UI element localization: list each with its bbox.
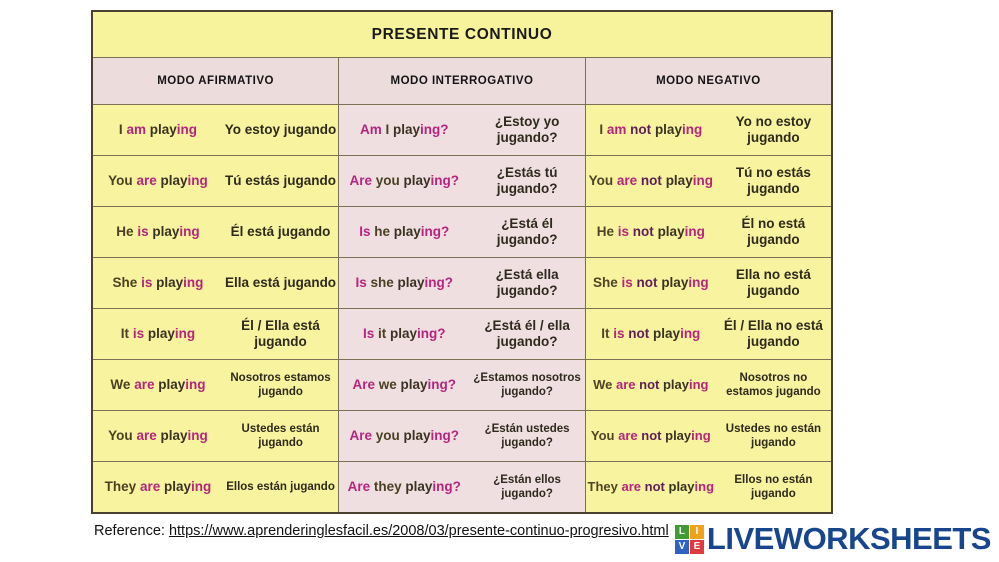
cell-negative: He is not playingÉl no está jugando <box>585 207 832 258</box>
interrogative-english: Are they playing? <box>339 479 469 495</box>
mode-header-negative: MODO NEGATIVO <box>585 58 832 105</box>
verb-ending: ing <box>685 224 705 239</box>
verb-stem: play <box>158 377 185 392</box>
cell-negative: I am not playingYo no estoy jugando <box>585 105 832 156</box>
interrogative-spanish: ¿Están ustedes jugando? <box>469 422 584 450</box>
verb-ending: ing <box>431 428 451 443</box>
negative-english: She is not playing <box>586 275 716 291</box>
interrogative-english: Are you playing? <box>339 428 469 444</box>
pronoun: You <box>589 173 614 188</box>
negative-spanish: Yo no estoy jugando <box>716 114 831 147</box>
table-body: PRESENTE CONTINUO MODO AFIRMATIVO MODO I… <box>92 11 832 513</box>
negative-spanish: Ella no está jugando <box>716 267 831 300</box>
negative-spanish: Él no está jugando <box>716 216 831 249</box>
pronoun: She <box>593 275 618 290</box>
auxiliary: are <box>616 377 636 392</box>
verb-stem: play <box>661 275 688 290</box>
interrogative-english: Is it playing? <box>339 326 469 342</box>
cell-interrogative: Are you playing?¿Estás tú jugando? <box>339 156 586 207</box>
negative-spanish: Ustedes no están jugando <box>716 422 831 450</box>
reference-label: Reference: <box>94 523 169 539</box>
pronoun: they <box>374 479 402 494</box>
verb-stem: play <box>669 479 695 494</box>
pronoun: I <box>599 122 603 137</box>
cell-affirmative: You are playingTú estás jugando <box>92 156 339 207</box>
verb-stem: play <box>404 428 431 443</box>
verb-ending: ing <box>175 326 195 341</box>
liveworksheets-logo: L I V E LIVEWORKSHEETS <box>675 521 991 557</box>
verb-stem: play <box>658 224 685 239</box>
mode-header-row: MODO AFIRMATIVO MODO INTERROGATIVO MODO … <box>92 58 832 105</box>
interrogative-spanish: ¿Están ellos jugando? <box>469 473 584 501</box>
question-mark: ? <box>448 377 456 392</box>
pronoun: we <box>379 377 397 392</box>
affirmative-english: She is playing <box>93 275 223 291</box>
pronoun: she <box>370 275 393 290</box>
logo-square-e: E <box>690 540 704 554</box>
reference-line: Reference: https://www.aprenderinglesfac… <box>94 523 669 539</box>
affirmative-spanish: Él / Ella está jugando <box>223 318 338 351</box>
verb-stem: play <box>398 275 425 290</box>
affirmative-spanish: Él está jugando <box>223 224 338 240</box>
pronoun: I <box>385 122 389 137</box>
verb-stem: play <box>405 479 432 494</box>
affirmative-english: He is playing <box>93 224 223 240</box>
verb-ending: ing <box>431 173 451 188</box>
cell-negative: We are not playingNosotros no estamos ju… <box>585 360 832 411</box>
auxiliary: Are <box>349 428 372 443</box>
cell-negative: They are not playingEllos no están jugan… <box>585 462 832 514</box>
auxiliary: Am <box>360 122 382 137</box>
affirmative-english: It is playing <box>93 326 223 342</box>
negation-word: not <box>630 122 651 137</box>
affirmative-spanish: Nosotros estamos jugando <box>223 371 338 399</box>
table-row: She is playingElla está jugandoIs she pl… <box>92 258 832 309</box>
question-mark: ? <box>451 428 459 443</box>
verb-ending: ing <box>693 173 713 188</box>
table-row: You are playingTú estás jugandoAre you p… <box>92 156 832 207</box>
pronoun: it <box>378 326 386 341</box>
verb-ending: ing <box>177 122 197 137</box>
auxiliary: are <box>618 428 638 443</box>
auxiliary: are <box>134 377 154 392</box>
logo-wordmark: LIVEWORKSHEETS <box>707 521 991 557</box>
affirmative-spanish: Ellos están jugando <box>223 480 338 494</box>
verb-ending: ing <box>688 275 708 290</box>
cell-affirmative: He is playingÉl está jugando <box>92 207 339 258</box>
verb-ending: ing <box>183 275 203 290</box>
question-mark: ? <box>441 224 449 239</box>
verb-ending: ing <box>191 479 211 494</box>
cell-interrogative: Is he playing?¿Está él jugando? <box>339 207 586 258</box>
verb-stem: play <box>156 275 183 290</box>
verb-ending: ing <box>682 122 702 137</box>
mode-header-interrogative: MODO INTERROGATIVO <box>339 58 586 105</box>
table-row: He is playingÉl está jugandoIs he playin… <box>92 207 832 258</box>
auxiliary: Are <box>349 173 372 188</box>
cell-affirmative: You are playingUstedes están jugando <box>92 411 339 462</box>
negation-word: not <box>639 377 659 392</box>
verb-ending: ing <box>689 377 709 392</box>
auxiliary: is <box>133 326 144 341</box>
cell-interrogative: Am I playing?¿Estoy yo jugando? <box>339 105 586 156</box>
verb-stem: play <box>653 326 680 341</box>
pronoun: you <box>376 173 400 188</box>
table-row: We are playingNosotros estamos jugandoAr… <box>92 360 832 411</box>
pronoun: It <box>121 326 129 341</box>
negative-english: You are not playing <box>586 173 716 189</box>
cell-interrogative: Is it playing?¿Está él / ella jugando? <box>339 309 586 360</box>
verb-ending: ing <box>188 173 208 188</box>
verb-ending: ing <box>680 326 700 341</box>
verb-stem: play <box>394 224 421 239</box>
pronoun: He <box>597 224 614 239</box>
question-mark: ? <box>445 275 453 290</box>
verb-ending: ing <box>420 122 440 137</box>
verb-ending: ing <box>421 224 441 239</box>
cell-affirmative: They are playingEllos están jugando <box>92 462 339 514</box>
present-continuous-table: PRESENTE CONTINUO MODO AFIRMATIVO MODO I… <box>91 10 833 514</box>
cell-negative: You are not playingUstedes no están juga… <box>585 411 832 462</box>
pronoun: I <box>119 122 123 137</box>
affirmative-english: You are playing <box>93 428 223 444</box>
auxiliary: is <box>137 224 148 239</box>
mode-header-affirmative: MODO AFIRMATIVO <box>92 58 339 105</box>
interrogative-english: Are you playing? <box>339 173 469 189</box>
interrogative-spanish: ¿Está él / ella jugando? <box>469 318 584 351</box>
verb-stem: play <box>393 122 420 137</box>
verb-stem: play <box>164 479 191 494</box>
verb-stem: play <box>666 173 693 188</box>
pronoun: She <box>113 275 138 290</box>
negative-english: It is not playing <box>586 326 716 342</box>
reference-url[interactable]: https://www.aprenderinglesfacil.es/2008/… <box>169 523 669 539</box>
interrogative-english: Is he playing? <box>339 224 469 240</box>
negation-word: not <box>637 275 658 290</box>
interrogative-spanish: ¿Está ella jugando? <box>469 267 584 300</box>
auxiliary: is <box>613 326 624 341</box>
negative-spanish: Tú no estás jugando <box>716 165 831 198</box>
verb-ending: ing <box>188 428 208 443</box>
affirmative-english: They are playing <box>93 479 223 495</box>
verb-ending: ing <box>428 377 448 392</box>
pronoun: You <box>108 428 133 443</box>
verb-stem: play <box>404 173 431 188</box>
verb-stem: play <box>160 173 187 188</box>
cell-negative: It is not playingÉl / Ella no está jugan… <box>585 309 832 360</box>
negation-word: not <box>645 479 665 494</box>
verb-stem: play <box>401 377 428 392</box>
cell-interrogative: Are we playing?¿Estamos nosotros jugando… <box>339 360 586 411</box>
affirmative-spanish: Yo estoy jugando <box>223 122 338 138</box>
affirmative-spanish: Tú estás jugando <box>223 173 338 189</box>
interrogative-spanish: ¿Estamos nosotros jugando? <box>469 371 584 399</box>
negative-english: You are not playing <box>586 428 716 444</box>
question-mark: ? <box>453 479 461 494</box>
negation-word: not <box>628 326 649 341</box>
interrogative-english: Am I playing? <box>339 122 469 138</box>
cell-affirmative: We are playingNosotros estamos jugando <box>92 360 339 411</box>
interrogative-spanish: ¿Estoy yo jugando? <box>469 114 584 147</box>
auxiliary: Is <box>363 326 374 341</box>
pronoun: You <box>591 428 615 443</box>
negative-english: We are not playing <box>586 377 716 393</box>
table-row: They are playingEllos están jugandoAre t… <box>92 462 832 514</box>
verb-stem: play <box>148 326 175 341</box>
negation-word: not <box>641 428 661 443</box>
question-mark: ? <box>440 122 448 137</box>
auxiliary: Are <box>348 479 371 494</box>
negation-word: not <box>633 224 654 239</box>
negative-spanish: Nosotros no estamos jugando <box>716 371 831 399</box>
pronoun: We <box>110 377 130 392</box>
table-row: I am playingYo estoy jugandoAm I playing… <box>92 105 832 156</box>
auxiliary: am <box>126 122 146 137</box>
cell-negative: You are not playingTú no estás jugando <box>585 156 832 207</box>
verb-ending: ing <box>417 326 437 341</box>
verb-ending: ing <box>425 275 445 290</box>
cell-interrogative: Is she playing?¿Está ella jugando? <box>339 258 586 309</box>
negative-english: They are not playing <box>586 479 716 495</box>
verb-stem: play <box>665 428 691 443</box>
interrogative-spanish: ¿Estás tú jugando? <box>469 165 584 198</box>
question-mark: ? <box>437 326 445 341</box>
auxiliary: are <box>136 173 156 188</box>
negative-english: He is not playing <box>586 224 716 240</box>
cell-affirmative: It is playingÉl / Ella está jugando <box>92 309 339 360</box>
auxiliary: is <box>618 224 629 239</box>
affirmative-spanish: Ella está jugando <box>223 275 338 291</box>
question-mark: ? <box>451 173 459 188</box>
interrogative-english: Are we playing? <box>339 377 469 393</box>
auxiliary: are <box>136 428 156 443</box>
pronoun: They <box>105 479 137 494</box>
cell-interrogative: Are they playing?¿Están ellos jugando? <box>339 462 586 514</box>
logo-squares: L I V E <box>675 525 704 554</box>
auxiliary: Is <box>355 275 366 290</box>
verb-stem: play <box>655 122 682 137</box>
logo-square-l: L <box>675 525 689 539</box>
interrogative-spanish: ¿Está él jugando? <box>469 216 584 249</box>
verb-ending: ing <box>691 428 711 443</box>
cell-affirmative: I am playingYo estoy jugando <box>92 105 339 156</box>
verb-ending: ing <box>179 224 199 239</box>
negative-english: I am not playing <box>586 122 716 138</box>
affirmative-spanish: Ustedes están jugando <box>223 422 338 450</box>
worksheet-page: PRESENTE CONTINUO MODO AFIRMATIVO MODO I… <box>0 0 999 562</box>
negative-spanish: Él / Ella no está jugando <box>716 318 831 351</box>
logo-square-i: I <box>690 525 704 539</box>
verb-stem: play <box>390 326 417 341</box>
table-row: You are playingUstedes están jugandoAre … <box>92 411 832 462</box>
verb-stem: play <box>663 377 689 392</box>
auxiliary: are <box>617 173 637 188</box>
pronoun: We <box>593 377 612 392</box>
pronoun: you <box>376 428 400 443</box>
interrogative-english: Is she playing? <box>339 275 469 291</box>
pronoun: You <box>108 173 133 188</box>
cell-affirmative: She is playingElla está jugando <box>92 258 339 309</box>
auxiliary: am <box>607 122 627 137</box>
affirmative-english: You are playing <box>93 173 223 189</box>
pronoun: It <box>601 326 609 341</box>
pronoun: he <box>374 224 390 239</box>
logo-square-v: V <box>675 540 689 554</box>
cell-negative: She is not playingElla no está jugando <box>585 258 832 309</box>
auxiliary: are <box>140 479 160 494</box>
verb-ending: ing <box>432 479 452 494</box>
pronoun: They <box>588 479 618 494</box>
auxiliary: is <box>141 275 152 290</box>
verb-stem: play <box>160 428 187 443</box>
table-row: It is playingÉl / Ella está jugandoIs it… <box>92 309 832 360</box>
verb-stem: play <box>152 224 179 239</box>
title-row: PRESENTE CONTINUO <box>92 11 832 58</box>
auxiliary: Is <box>359 224 370 239</box>
affirmative-english: I am playing <box>93 122 223 138</box>
pronoun: He <box>116 224 133 239</box>
verb-ending: ing <box>695 479 715 494</box>
auxiliary: Are <box>352 377 375 392</box>
auxiliary: are <box>622 479 642 494</box>
table-title: PRESENTE CONTINUO <box>92 11 832 58</box>
auxiliary: is <box>622 275 633 290</box>
cell-interrogative: Are you playing?¿Están ustedes jugando? <box>339 411 586 462</box>
verb-ending: ing <box>185 377 205 392</box>
affirmative-english: We are playing <box>93 377 223 393</box>
negative-spanish: Ellos no están jugando <box>716 473 831 501</box>
verb-stem: play <box>150 122 177 137</box>
negation-word: not <box>641 173 662 188</box>
